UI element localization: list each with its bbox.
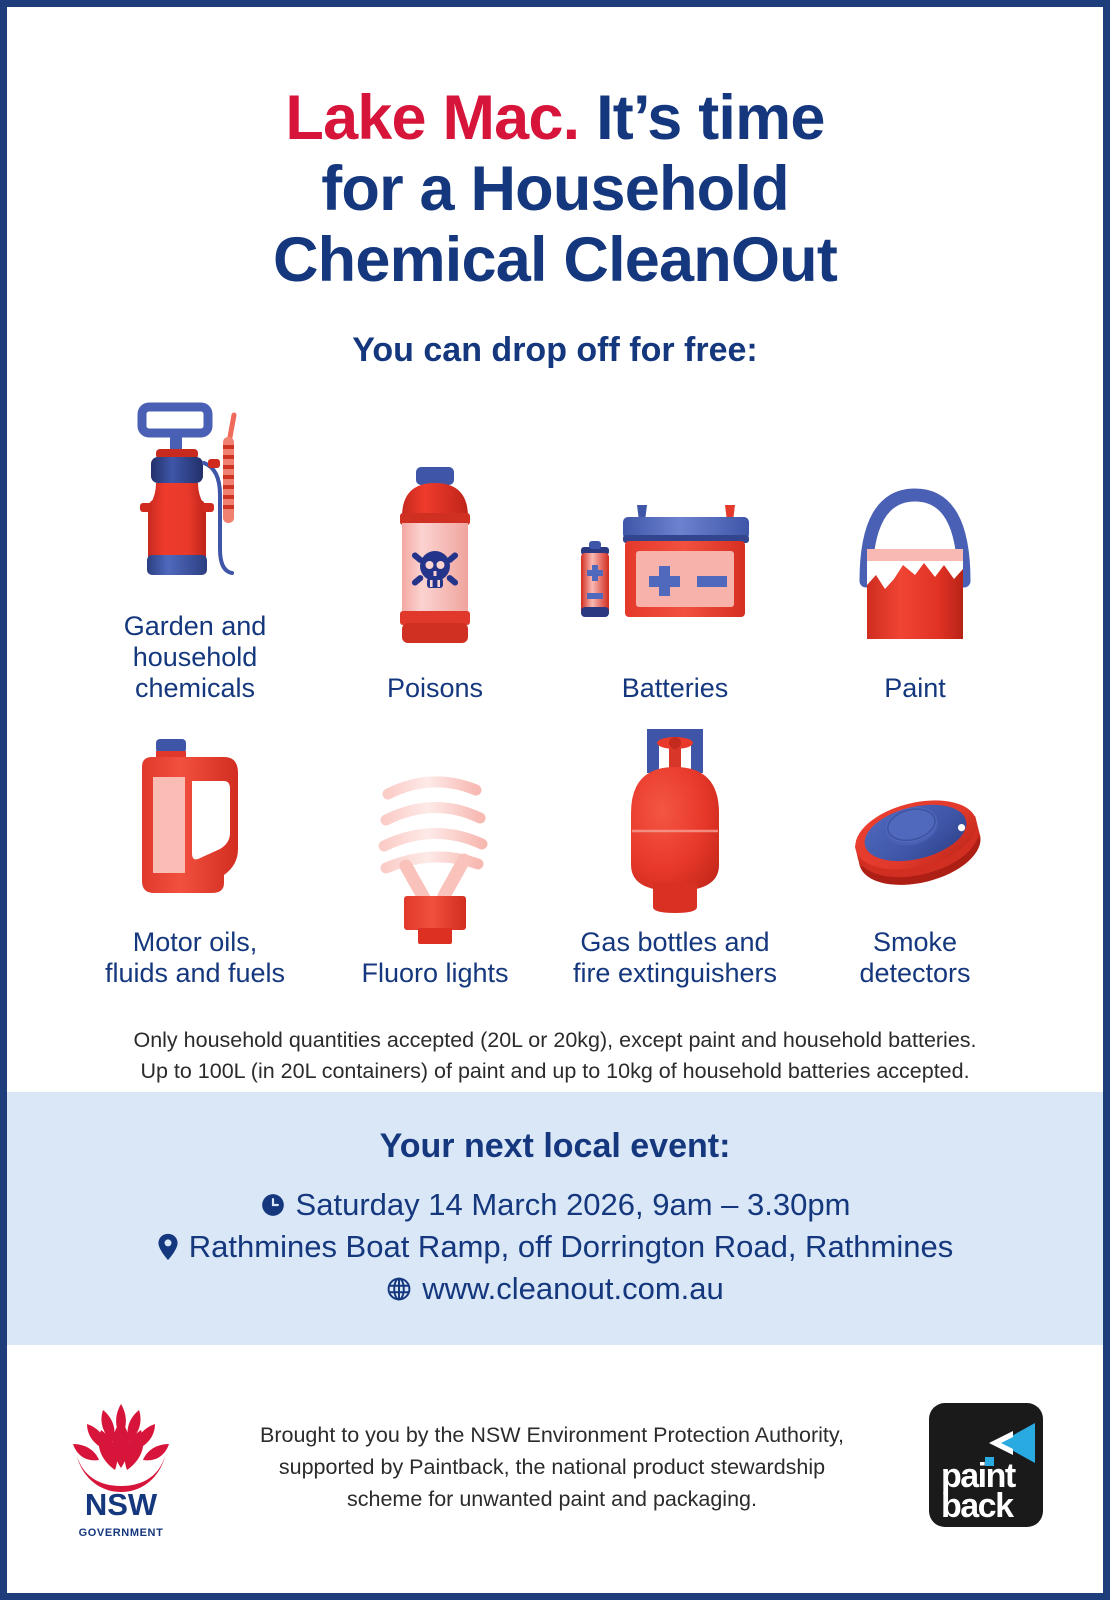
gas-bottle-icon (595, 710, 755, 915)
event-location-row: Rathmines Boat Ramp, off Dorrington Road… (157, 1229, 953, 1265)
nsw-government-logo: NSW GOVERNMENT (65, 1396, 177, 1539)
map-pin-icon (157, 1233, 179, 1261)
item-smoke-detectors: Smoke detectors (795, 710, 1035, 989)
poster: Lake Mac. It’s time for a Household Chem… (0, 0, 1110, 1600)
footer: NSW GOVERNMENT Brought to you by the NSW… (7, 1382, 1103, 1552)
event-location: Rathmines Boat Ramp, off Dorrington Road… (189, 1229, 953, 1265)
item-label: Fluoro lights (361, 958, 508, 989)
item-label: Motor oils, fluids and fuels (105, 927, 285, 989)
next-event-panel: Your next local event: Saturday 14 March… (7, 1092, 1103, 1345)
event-website-url[interactable]: www.cleanout.com.au (422, 1271, 724, 1307)
accepted-items-grid: Garden and household chemicals (75, 394, 1035, 989)
subheading: You can drop off for free: (7, 331, 1103, 370)
item-gas-bottles: Gas bottles and fire extinguishers (555, 710, 795, 989)
item-label: Poisons (387, 673, 483, 704)
item-label: Batteries (622, 673, 729, 704)
car-battery-icon (575, 456, 775, 661)
item-paint: Paint (795, 394, 1035, 704)
headline-line3: Chemical CleanOut (273, 225, 837, 295)
quantity-disclaimer: Only household quantities accepted (20L … (65, 1025, 1045, 1087)
event-datetime-row: Saturday 14 March 2026, 9am – 3.30pm (260, 1187, 851, 1223)
headline-line2: for a Household (321, 154, 789, 224)
item-fluoro-lights: Fluoro lights (315, 710, 555, 989)
poison-bottle-icon (380, 456, 490, 661)
event-panel-title: Your next local event: (380, 1127, 731, 1166)
fluoro-bulb-icon (360, 741, 510, 946)
nsw-wordmark: NSW (85, 1487, 158, 1522)
nsw-government-label: GOVERNMENT (65, 1527, 177, 1539)
item-label: Garden and household chemicals (75, 611, 315, 704)
item-poisons: Poisons (315, 394, 555, 704)
headline-line1-rest: It’s time (579, 83, 824, 153)
item-garden-chemicals: Garden and household chemicals (75, 394, 315, 704)
page-title: Lake Mac. It’s time for a Household Chem… (7, 7, 1103, 297)
paintback-logo: paint back (927, 1401, 1045, 1534)
item-batteries: Batteries (555, 394, 795, 704)
garden-sprayer-icon (120, 394, 270, 599)
smoke-detector-icon (835, 710, 995, 915)
item-motor-oils: Motor oils, fluids and fuels (75, 710, 315, 989)
item-label: Paint (884, 673, 946, 704)
globe-icon (386, 1276, 412, 1302)
event-website-row[interactable]: www.cleanout.com.au (386, 1271, 724, 1307)
footer-credit-text: Brought to you by the NSW Environment Pr… (177, 1419, 927, 1516)
paint-tin-icon (840, 456, 990, 661)
item-label: Smoke detectors (859, 927, 970, 989)
event-datetime: Saturday 14 March 2026, 9am – 3.30pm (296, 1187, 851, 1223)
oil-jerrycan-icon (120, 710, 270, 915)
paintback-word-back: back (941, 1487, 1014, 1525)
headline-red-text: Lake Mac. (285, 83, 579, 153)
item-label: Gas bottles and fire extinguishers (573, 927, 777, 989)
clock-icon (260, 1192, 286, 1218)
